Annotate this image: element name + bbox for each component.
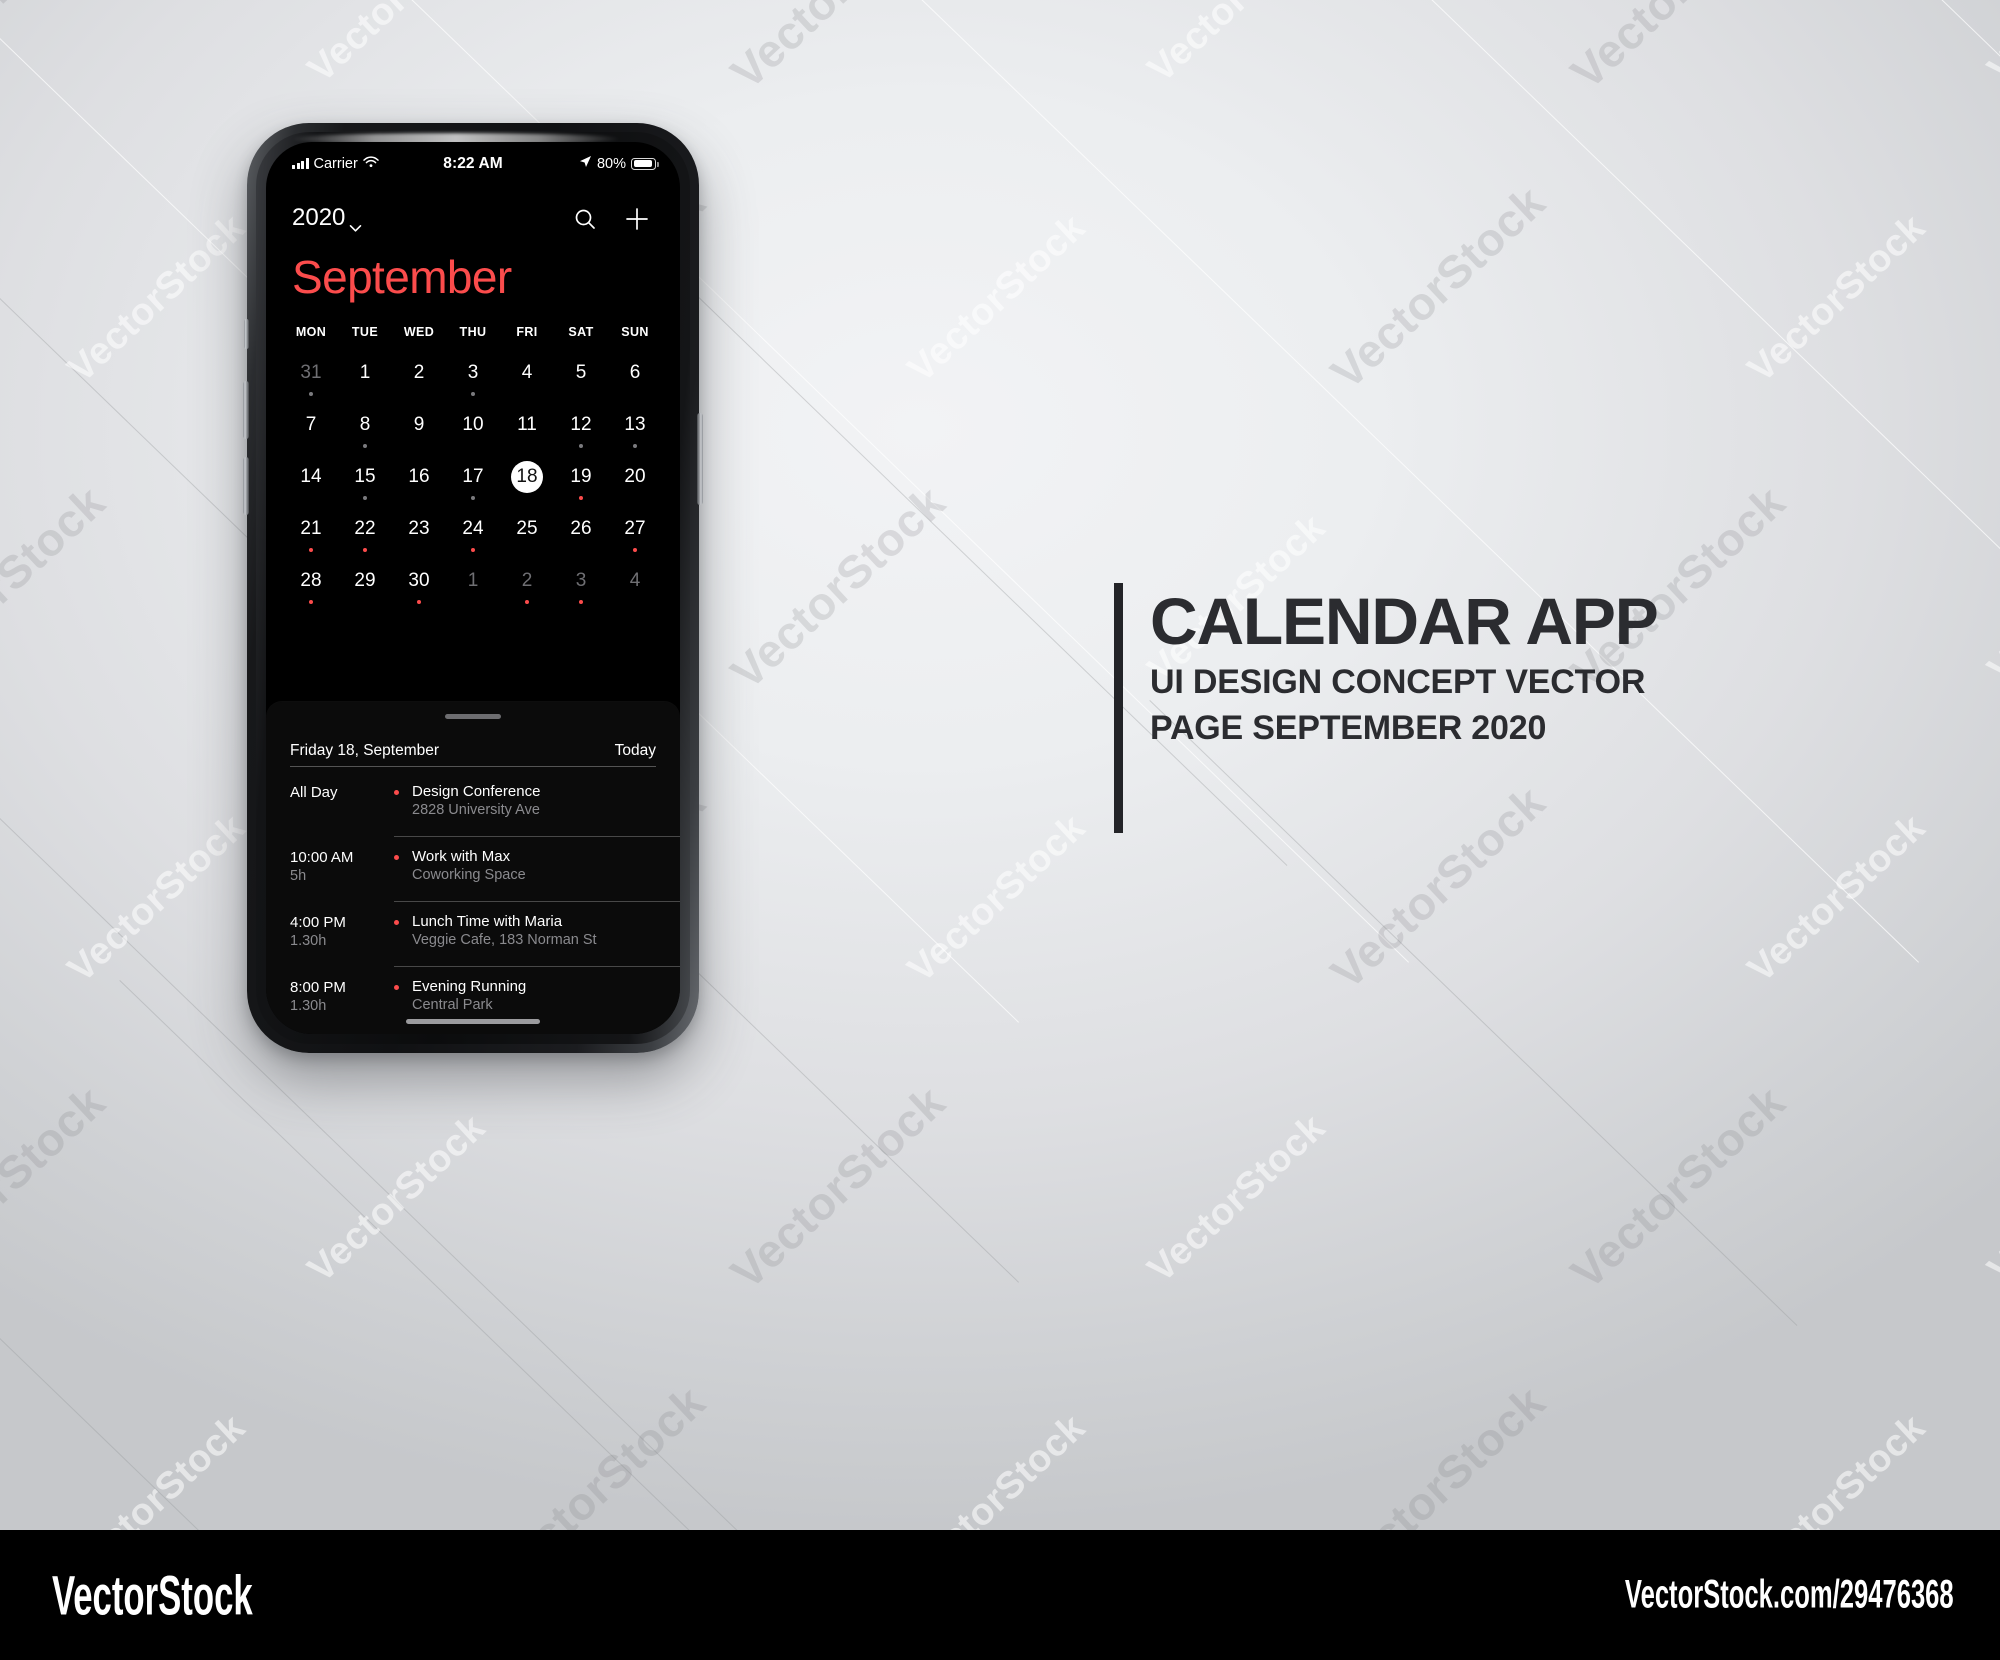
calendar-day-cell[interactable]: 20: [608, 460, 662, 512]
calendar-day-cell[interactable]: 14: [284, 460, 338, 512]
event-detail-block: Lunch Time with MariaVeggie Cafe, 183 No…: [394, 912, 656, 967]
event-title: Design Conference: [412, 782, 656, 801]
year-label: 2020: [292, 204, 345, 232]
day-number: 4: [511, 357, 543, 389]
event-start-time: All Day: [290, 783, 394, 802]
calendar-header: 2020: [266, 204, 680, 238]
watermark-text: VectorStock: [60, 206, 254, 391]
day-number: 8: [349, 409, 381, 441]
day-number: 3: [565, 565, 597, 597]
event-bullet-icon: [394, 790, 399, 795]
weekday-label-mon: MON: [284, 325, 338, 339]
calendar-day-cell[interactable]: 10: [446, 408, 500, 460]
watermark-text: VectorStock: [480, 1375, 715, 1530]
event-time-block: 4:00 PM1.30h: [290, 912, 394, 967]
hairline: [1859, 0, 2000, 963]
day-number: 13: [619, 409, 651, 441]
hairline: [1349, 0, 2000, 963]
hairline: [839, 0, 1919, 963]
caption-subtitle-line2: PAGE SEPTEMBER 2020: [1150, 705, 1658, 751]
event-duration: 5h: [290, 867, 394, 886]
calendar-day-cell[interactable]: 15: [338, 460, 392, 512]
day-number: 6: [619, 357, 651, 389]
watermark-text: VectorStock: [60, 806, 254, 991]
volume-down-button[interactable]: [243, 457, 249, 515]
calendar-day-cell[interactable]: 31: [284, 356, 338, 408]
day-number: 10: [457, 409, 489, 441]
weekday-label-sat: SAT: [554, 325, 608, 339]
watermark-text: VectorStock: [0, 0, 115, 99]
watermark-text: VectorStock: [1320, 775, 1555, 1000]
event-dot-red: [417, 600, 421, 604]
watermark-text: VectorStock: [1560, 0, 1795, 99]
event-row[interactable]: All DayDesign Conference2828 University …: [266, 772, 680, 837]
watermark-text: VectorStock: [1320, 175, 1555, 400]
artboard-background: VectorStockVectorStockVectorStockVectorS…: [0, 0, 2000, 1530]
weekday-label-wed: WED: [392, 325, 446, 339]
calendar-day-cell[interactable]: 5: [554, 356, 608, 408]
event-dot-red: [579, 600, 583, 604]
day-number: 2: [511, 565, 543, 597]
watermark-text: VectorStock: [300, 1106, 494, 1291]
weekday-label-tue: TUE: [338, 325, 392, 339]
event-time-block: All Day: [290, 782, 394, 837]
watermark-text: VectorStock: [1320, 1375, 1555, 1530]
today-button[interactable]: Today: [615, 742, 656, 760]
day-number: 28: [295, 565, 327, 597]
day-number: 29: [349, 565, 381, 597]
day-number: 20: [619, 461, 651, 493]
event-time-block: 10:00 AM5h: [290, 847, 394, 902]
event-time-block: 8:00 PM1.30h: [290, 977, 394, 1032]
phone-screen: Carrier 8:22 AM 80%: [266, 142, 680, 1034]
calendar-day-cell[interactable]: 27: [608, 512, 662, 564]
calendar-day-cell[interactable]: 7: [284, 408, 338, 460]
day-number: 12: [565, 409, 597, 441]
event-location: Veggie Cafe, 183 Norman St: [412, 931, 656, 950]
event-dot-red: [309, 600, 313, 604]
sheet-drag-handle[interactable]: [445, 714, 501, 719]
day-number: 1: [457, 565, 489, 597]
caption-rule: [1114, 583, 1123, 833]
calendar-day-cell[interactable]: 12: [554, 408, 608, 460]
vectorstock-url: VectorStock.com/29476368: [1625, 1573, 1954, 1618]
watermark-text: VectorStock: [1740, 1406, 1934, 1530]
calendar-day-cell[interactable]: 6: [608, 356, 662, 408]
event-row[interactable]: 4:00 PM1.30hLunch Time with MariaVeggie …: [266, 902, 680, 967]
watermark-text: VectorStock: [900, 206, 1094, 391]
calendar-day-cell[interactable]: 1: [338, 356, 392, 408]
day-number: 14: [295, 461, 327, 493]
day-number: 22: [349, 513, 381, 545]
event-list: All DayDesign Conference2828 University …: [266, 772, 680, 1032]
event-bullet-icon: [394, 985, 399, 990]
watermark-text: VectorStock: [720, 0, 955, 99]
calendar-day-cell[interactable]: 9: [392, 408, 446, 460]
calendar-day-cell[interactable]: 1: [446, 564, 500, 616]
day-number: 3: [457, 357, 489, 389]
power-button[interactable]: [697, 413, 703, 505]
location-arrow-icon: [579, 155, 592, 172]
weekday-header: MONTUEWEDTHUFRISATSUN: [284, 325, 662, 339]
weekday-label-fri: FRI: [500, 325, 554, 339]
event-detail-block: Design Conference2828 University Ave: [394, 782, 656, 837]
calendar-day-cell[interactable]: 2: [500, 564, 554, 616]
calendar-day-cell[interactable]: 29: [338, 564, 392, 616]
year-selector[interactable]: 2020: [292, 204, 360, 232]
caption-text: CALENDAR APP UI DESIGN CONCEPT VECTOR PA…: [1150, 583, 1658, 751]
day-number: 23: [403, 513, 435, 545]
calendar-day-cell[interactable]: 28: [284, 564, 338, 616]
calendar-day-cell[interactable]: 25: [500, 512, 554, 564]
watermark-text: VectorStock: [1740, 806, 1934, 991]
hairline: [639, 240, 1287, 866]
event-start-time: 8:00 PM: [290, 978, 394, 997]
day-number: 15: [349, 461, 381, 493]
plus-icon[interactable]: [624, 206, 654, 236]
watermark-text: VectorStock: [1560, 1075, 1795, 1300]
event-dot-gray: [471, 392, 475, 396]
day-number: 9: [403, 409, 435, 441]
vectorstock-logo: VectorStock: [52, 1563, 253, 1628]
event-location: 2828 University Ave: [412, 801, 656, 820]
day-number: 31: [295, 357, 327, 389]
day-number: 27: [619, 513, 651, 545]
day-number: 26: [565, 513, 597, 545]
event-dot-gray: [579, 444, 583, 448]
day-number: 4: [619, 565, 651, 597]
event-dot-red: [309, 548, 313, 552]
event-bullet-icon: [394, 920, 399, 925]
event-duration: 1.30h: [290, 932, 394, 951]
event-dot-gray: [309, 392, 313, 396]
phone-mockup: Carrier 8:22 AM 80%: [247, 123, 699, 1053]
watermark-text: VectorStock: [720, 1075, 955, 1300]
calendar-day-cell[interactable]: 17: [446, 460, 500, 512]
calendar-day-cell[interactable]: 4: [608, 564, 662, 616]
event-detail-block: Work with MaxCoworking Space: [394, 847, 656, 902]
calendar-day-cell[interactable]: 16: [392, 460, 446, 512]
watermark-text: VectorStock: [0, 475, 115, 700]
watermark-text: VectorStock: [60, 1406, 254, 1530]
calendar-day-cell[interactable]: 11: [500, 408, 554, 460]
watermark-text: VectorStock: [1980, 0, 2000, 91]
event-dot-red: [471, 548, 475, 552]
battery-icon: [631, 158, 656, 170]
event-sheet: Friday 18, September Today All DayDesign…: [266, 702, 680, 1034]
day-number: 5: [565, 357, 597, 389]
event-start-time: 10:00 AM: [290, 848, 394, 867]
page-title: September: [292, 250, 512, 304]
search-icon[interactable]: [572, 206, 602, 236]
day-number: 1: [349, 357, 381, 389]
mute-switch[interactable]: [244, 319, 249, 349]
calendar-day-cell[interactable]: 18: [500, 460, 554, 512]
event-dot-gray: [633, 444, 637, 448]
calendar-day-cell[interactable]: 3: [554, 564, 608, 616]
event-dot-red: [579, 496, 583, 500]
watermark-text: VectorStock: [900, 806, 1094, 991]
selected-date-label: Friday 18, September: [290, 742, 439, 760]
event-dot-red: [525, 600, 529, 604]
event-dot-red: [633, 548, 637, 552]
event-duration: 1.30h: [290, 997, 394, 1016]
hairline: [1149, 700, 1797, 1326]
day-number: 25: [511, 513, 543, 545]
volume-up-button[interactable]: [243, 381, 249, 439]
day-number: 11: [511, 409, 543, 441]
day-number: 2: [403, 357, 435, 389]
calendar-day-cell[interactable]: 21: [284, 512, 338, 564]
watermark-text: VectorStock: [720, 475, 955, 700]
weekday-label-thu: THU: [446, 325, 500, 339]
calendar-day-cell[interactable]: 8: [338, 408, 392, 460]
calendar-day-cell[interactable]: 19: [554, 460, 608, 512]
event-row[interactable]: 10:00 AM5hWork with MaxCoworking Space: [266, 837, 680, 902]
calendar-day-cell[interactable]: 13: [608, 408, 662, 460]
home-indicator[interactable]: [406, 1019, 540, 1024]
chevron-down-icon: [349, 214, 360, 225]
event-location: Central Park: [412, 996, 656, 1015]
calendar-day-cell[interactable]: 4: [500, 356, 554, 408]
event-bullet-icon: [394, 855, 399, 860]
event-title: Evening Running: [412, 977, 656, 996]
hairline: [0, 1280, 1019, 1530]
event-dot-gray: [471, 496, 475, 500]
sheet-header: Friday 18, September Today: [290, 734, 656, 768]
calendar-day-cell[interactable]: 22: [338, 512, 392, 564]
day-number: 16: [403, 461, 435, 493]
caption-subtitle-line1: UI DESIGN CONCEPT VECTOR: [1150, 659, 1658, 705]
event-dot-gray: [363, 444, 367, 448]
weekday-label-sun: SUN: [608, 325, 662, 339]
watermark-text: VectorStock: [1980, 506, 2000, 691]
calendar-day-cell[interactable]: 24: [446, 512, 500, 564]
calendar-day-cell[interactable]: 3: [446, 356, 500, 408]
battery-percent-label: 80%: [597, 156, 626, 172]
watermark-text: VectorStock: [900, 1406, 1094, 1530]
footer-bar: VectorStock VectorStock.com/29476368: [0, 1530, 2000, 1660]
watermark-text: VectorStock: [1980, 1106, 2000, 1291]
sheet-header-divider: [290, 766, 656, 767]
event-start-time: 4:00 PM: [290, 913, 394, 932]
day-number: 7: [295, 409, 327, 441]
event-dot-red: [363, 548, 367, 552]
day-number: 17: [457, 461, 489, 493]
status-bar-right: 80%: [579, 155, 656, 172]
day-number: 24: [457, 513, 489, 545]
caption-title: CALENDAR APP: [1150, 583, 1658, 659]
calendar-day-cell[interactable]: 26: [554, 512, 608, 564]
watermark-text: VectorStock: [0, 1075, 115, 1300]
calendar-day-cell[interactable]: 30: [392, 564, 446, 616]
calendar-day-cell[interactable]: 2: [392, 356, 446, 408]
day-number: 30: [403, 565, 435, 597]
day-number: 19: [565, 461, 597, 493]
event-location: Coworking Space: [412, 866, 656, 885]
watermark-text: VectorStock: [1140, 1106, 1334, 1291]
event-title: Work with Max: [412, 847, 656, 866]
watermark-text: VectorStock: [300, 0, 494, 91]
event-title: Lunch Time with Maria: [412, 912, 656, 931]
watermark-text: VectorStock: [1140, 0, 1334, 91]
calendar-day-cell[interactable]: 23: [392, 512, 446, 564]
hairline: [119, 980, 767, 1530]
calendar-grid: 3112345678910111213141516171819202122232…: [284, 356, 662, 616]
watermark-text: VectorStock: [1740, 206, 1934, 391]
day-number: 18: [511, 461, 543, 493]
status-bar: Carrier 8:22 AM 80%: [266, 142, 680, 186]
event-dot-gray: [363, 496, 367, 500]
day-number: 21: [295, 513, 327, 545]
